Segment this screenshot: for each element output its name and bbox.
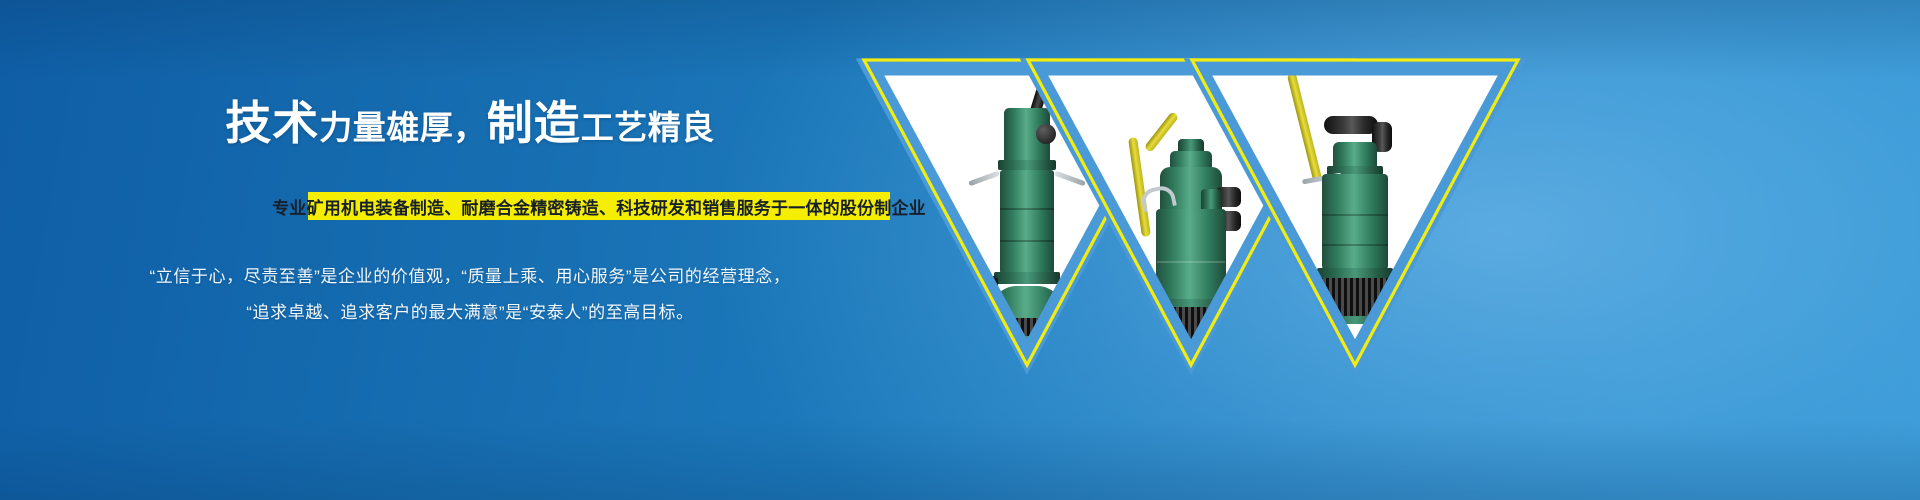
headline-segment-3: 制造 (487, 97, 581, 149)
headline-segment-4: 工艺精良 (581, 109, 715, 146)
banner-paragraph-line-1: “立信于心，尽责至善”是企业的价值观，“质量上乘、用心服务”是公司的经营理念， (0, 262, 940, 287)
promotional-banner: 技术力量雄厚，制造工艺精良 专业矿用机电装备制造、耐磨合金精密铸造、科技研发和销… (0, 0, 1920, 500)
banner-paragraph-line-2: “追求卓越、追求客户的最大满意”是“安泰人”的至高目标。 (0, 298, 940, 323)
headline-segment-2: 力量雄厚， (319, 109, 487, 146)
highlight-bar-text: 专业矿用机电装备制造、耐磨合金精密铸造、科技研发和销售服务于一体的股份制企业 (272, 194, 926, 219)
product-triangle-group (850, 0, 1920, 500)
banner-highlight-bar: 专业矿用机电装备制造、耐磨合金精密铸造、科技研发和销售服务于一体的股份制企业 (308, 192, 890, 220)
triangle-frame-3 (1190, 55, 1520, 365)
headline-segment-1: 技术 (225, 97, 319, 149)
triangle-product-3 (1190, 55, 1520, 365)
banner-headline: 技术力量雄厚，制造工艺精良 (0, 100, 940, 146)
banner-text-block: 技术力量雄厚，制造工艺精良 专业矿用机电装备制造、耐磨合金精密铸造、科技研发和销… (0, 0, 960, 500)
